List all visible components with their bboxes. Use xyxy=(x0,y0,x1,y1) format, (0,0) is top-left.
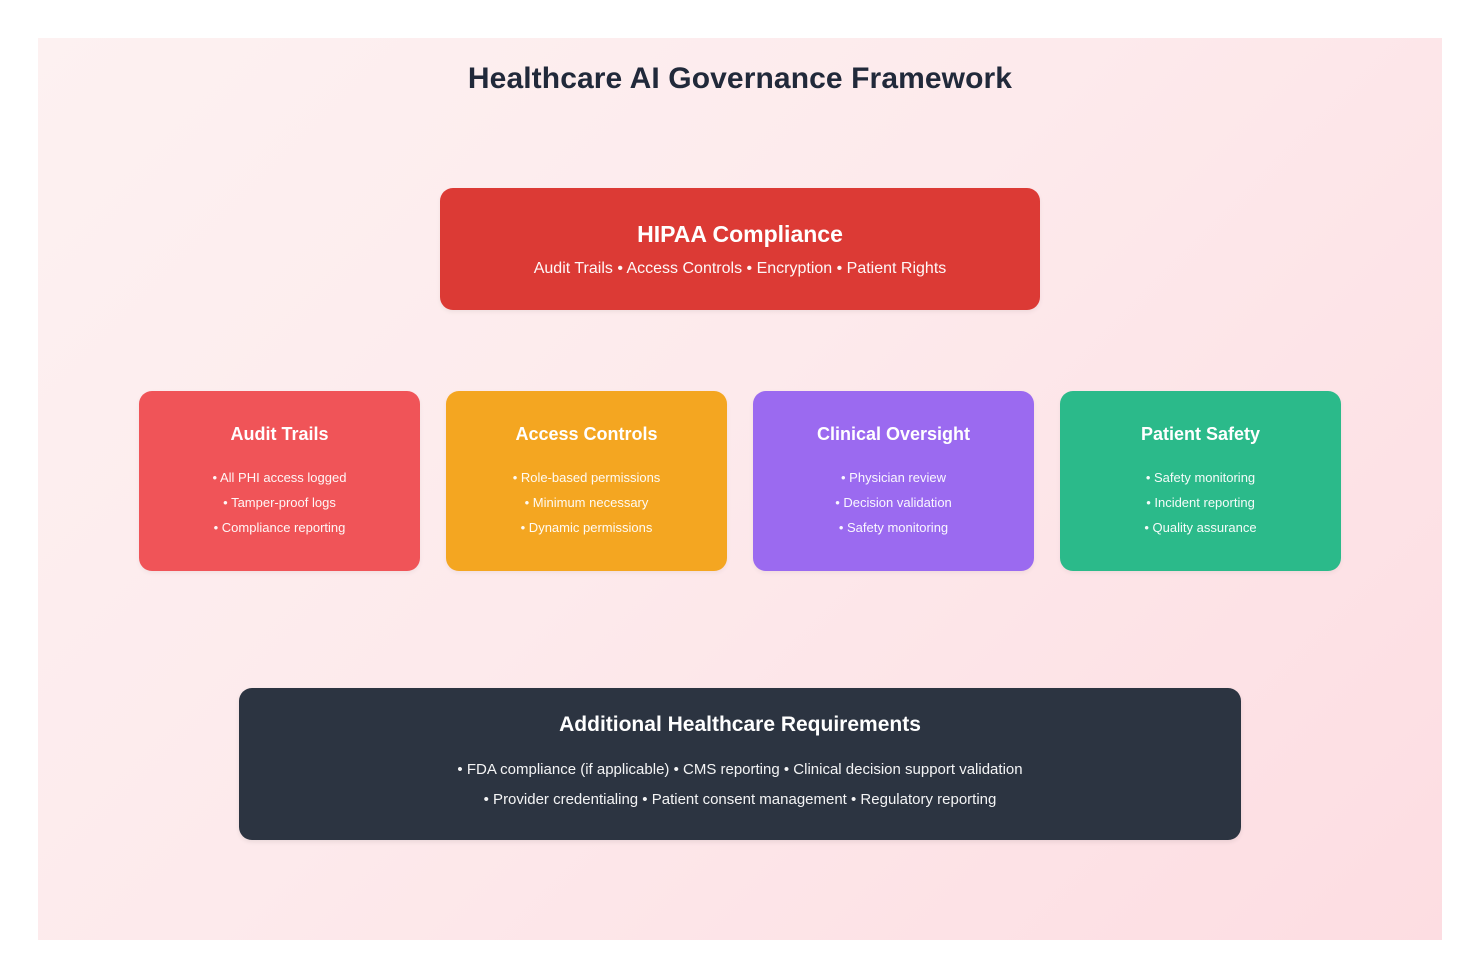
card-item: • Quality assurance xyxy=(1060,515,1341,540)
framework-panel: Healthcare AI Governance Framework HIPAA… xyxy=(38,38,1442,940)
card-item: • Physician review xyxy=(753,465,1034,490)
additional-requirements-panel[interactable]: Additional Healthcare Requirements • FDA… xyxy=(239,688,1241,840)
card-item: • Dynamic permissions xyxy=(446,515,727,540)
additional-requirements-line: • FDA compliance (if applicable) • CMS r… xyxy=(457,755,1022,785)
card-item: • Safety monitoring xyxy=(1060,465,1341,490)
card-access-controls[interactable]: Access Controls • Role-based permissions… xyxy=(446,391,727,571)
additional-requirements-title: Additional Healthcare Requirements xyxy=(559,713,921,737)
page-title: Healthcare AI Governance Framework xyxy=(38,62,1442,96)
hipaa-compliance-title: HIPAA Compliance xyxy=(637,221,843,248)
card-item: • Tamper-proof logs xyxy=(139,490,420,515)
card-item: • Incident reporting xyxy=(1060,490,1341,515)
card-item: • All PHI access logged xyxy=(139,465,420,490)
card-item: • Safety monitoring xyxy=(753,515,1034,540)
card-clinical-oversight[interactable]: Clinical Oversight • Physician review • … xyxy=(753,391,1034,571)
card-item: • Decision validation xyxy=(753,490,1034,515)
pillar-card-row: Audit Trails • All PHI access logged • T… xyxy=(139,391,1341,571)
card-item: • Compliance reporting xyxy=(139,515,420,540)
card-title: Clinical Oversight xyxy=(753,424,1034,445)
card-title: Patient Safety xyxy=(1060,424,1341,445)
card-item: • Role-based permissions xyxy=(446,465,727,490)
hipaa-compliance-subtitle: Audit Trails • Access Controls • Encrypt… xyxy=(534,260,947,278)
card-patient-safety[interactable]: Patient Safety • Safety monitoring • Inc… xyxy=(1060,391,1341,571)
hipaa-compliance-banner[interactable]: HIPAA Compliance Audit Trails • Access C… xyxy=(440,188,1040,310)
diagram-canvas: Healthcare AI Governance Framework HIPAA… xyxy=(0,0,1480,980)
card-title: Access Controls xyxy=(446,424,727,445)
card-audit-trails[interactable]: Audit Trails • All PHI access logged • T… xyxy=(139,391,420,571)
card-item: • Minimum necessary xyxy=(446,490,727,515)
additional-requirements-line: • Provider credentialing • Patient conse… xyxy=(484,785,997,815)
card-title: Audit Trails xyxy=(139,424,420,445)
